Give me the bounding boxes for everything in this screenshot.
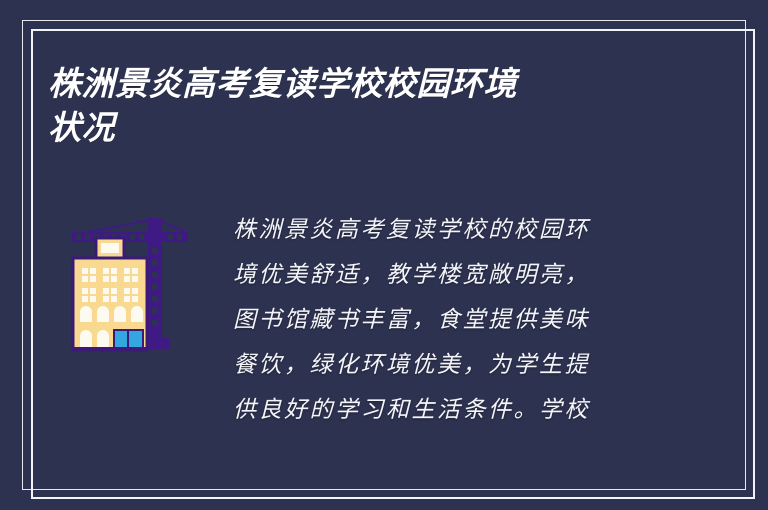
building-with-crane-illustration xyxy=(56,216,208,361)
school-building-icon xyxy=(73,238,147,350)
title-line-2: 状况 xyxy=(48,106,648,150)
body-paragraph: 株洲景炎高考复读学校的校园环 境优美舒适，教学楼宽敞明亮， 图书馆藏书丰富，食堂… xyxy=(233,208,648,433)
body-line-3: 图书馆藏书丰富，食堂提供美味 xyxy=(233,298,648,343)
body-line-1: 株洲景炎高考复读学校的校园环 xyxy=(233,208,648,253)
title-line-1: 株洲景炎高考复读学校校园环境 xyxy=(48,62,648,106)
body-line-4: 餐饮，绿化环境优美，为学生提 xyxy=(233,343,648,388)
body-line-2: 境优美舒适，教学楼宽敞明亮， xyxy=(233,253,648,298)
poster-canvas: 株洲景炎高考复读学校校园环境 状况 xyxy=(0,0,768,510)
page-title: 株洲景炎高考复读学校校园环境 状况 xyxy=(48,62,648,150)
body-line-5: 供良好的学习和生活条件。学校 xyxy=(233,388,648,433)
